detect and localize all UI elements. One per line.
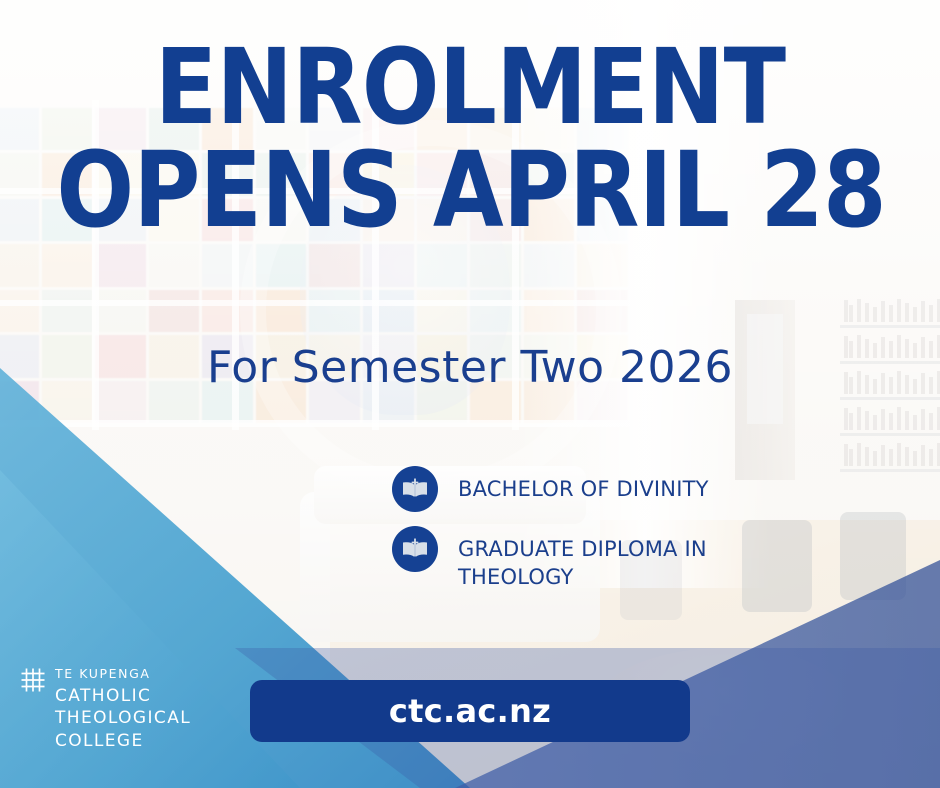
logo-text: TE KUPENGA CATHOLIC THEOLOGICAL COLLEGE bbox=[55, 662, 191, 752]
course-list: BACHELOR OF DIVINITY GRADUATE DIPLOMA IN… bbox=[392, 466, 792, 605]
course-label: BACHELOR OF DIVINITY bbox=[458, 466, 709, 503]
logo-name: CATHOLIC THEOLOGICAL COLLEGE bbox=[55, 685, 191, 753]
net-grid-icon bbox=[20, 662, 46, 752]
subtitle: For Semester Two 2026 bbox=[0, 342, 940, 393]
promotional-poster: ENROLMENT OPENS APRIL 28 For Semester Tw… bbox=[0, 0, 940, 788]
poster-content: ENROLMENT OPENS APRIL 28 For Semester Tw… bbox=[0, 0, 940, 788]
ctc-logo: TE KUPENGA CATHOLIC THEOLOGICAL COLLEGE bbox=[20, 662, 191, 752]
course-label: GRADUATE DIPLOMA IN THEOLOGY bbox=[458, 526, 758, 591]
list-item: BACHELOR OF DIVINITY bbox=[392, 466, 792, 512]
list-item: GRADUATE DIPLOMA IN THEOLOGY bbox=[392, 526, 792, 591]
logo-prefix: TE KUPENGA bbox=[55, 660, 151, 681]
logo-name-line-3: COLLEGE bbox=[55, 730, 191, 753]
website-url-button[interactable]: ctc.ac.nz bbox=[250, 680, 690, 742]
open-book-cross-icon bbox=[392, 466, 438, 512]
logo-name-line-1: CATHOLIC bbox=[55, 685, 191, 708]
headline-line-1: ENROLMENT bbox=[56, 38, 883, 137]
headline-line-2: OPENS APRIL 28 bbox=[56, 141, 883, 240]
open-book-cross-icon bbox=[392, 526, 438, 572]
logo-name-line-2: THEOLOGICAL bbox=[55, 707, 191, 730]
page-title: ENROLMENT OPENS APRIL 28 bbox=[56, 38, 883, 240]
